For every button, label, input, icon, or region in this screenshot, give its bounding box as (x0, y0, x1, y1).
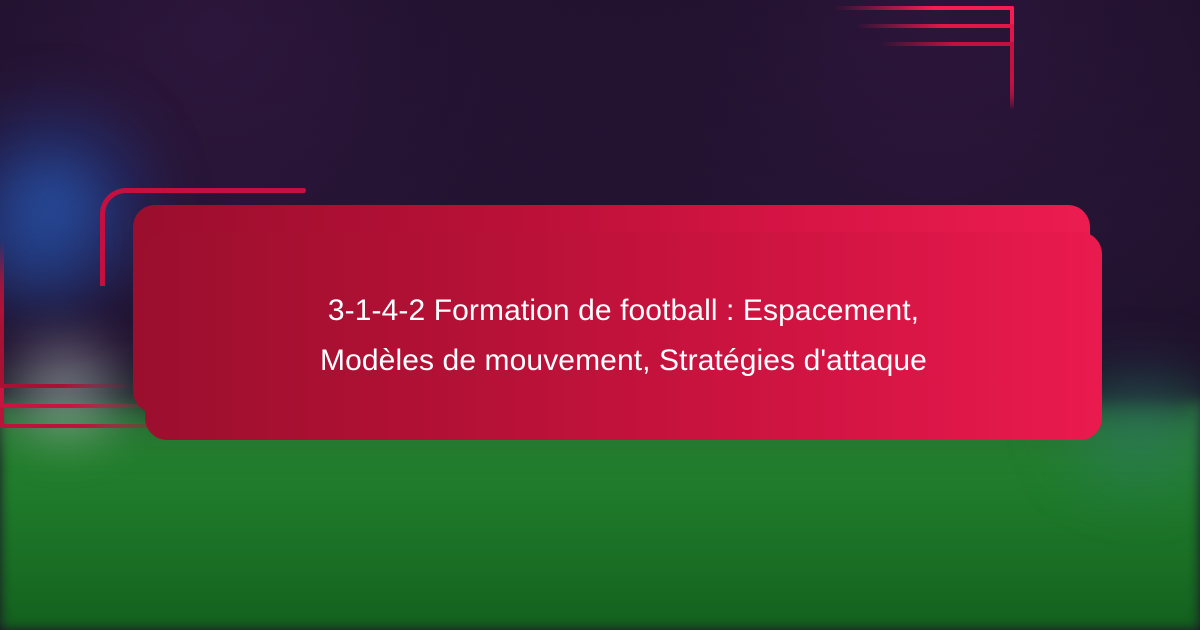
title-card-front: 3-1-4-2 Formation de football : Espaceme… (145, 232, 1102, 440)
page-title: 3-1-4-2 Formation de football : Espaceme… (280, 286, 967, 386)
corner-decoration-top-right (1014, 0, 1200, 110)
card-outline-accent-extension (124, 188, 306, 193)
share-card-canvas: 3-1-4-2 Formation de football : Espaceme… (0, 0, 1200, 630)
corner-decoration-bottom-left (0, 434, 186, 630)
page-title-line-1: 3-1-4-2 Formation de football : Espaceme… (320, 286, 927, 336)
page-title-line-2: Modèles de mouvement, Stratégies d'attaq… (320, 336, 927, 386)
